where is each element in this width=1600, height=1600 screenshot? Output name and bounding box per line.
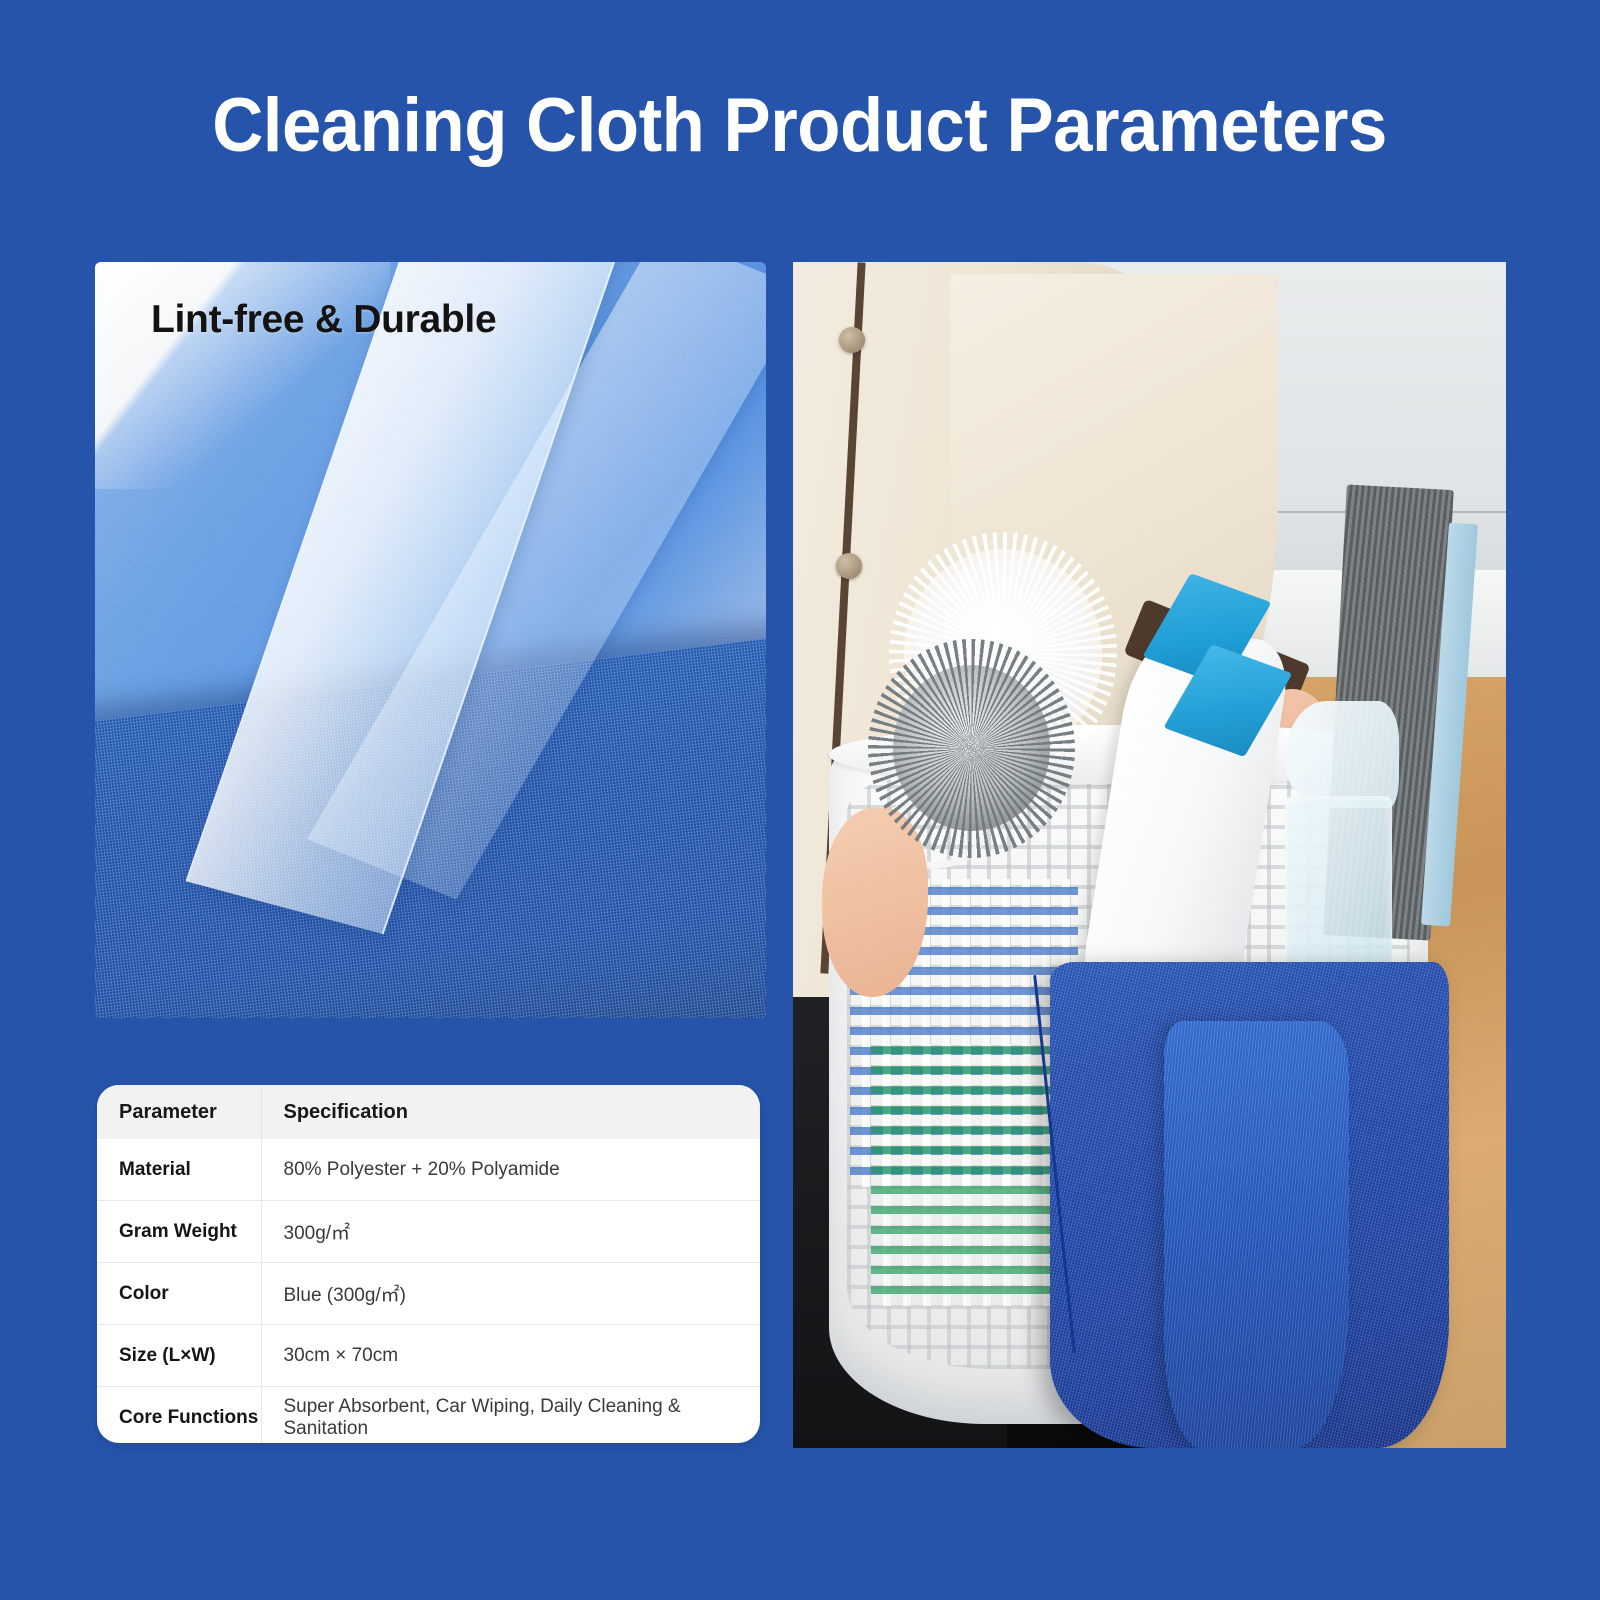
table-row: Gram Weight 300g/㎡ xyxy=(97,1201,760,1263)
cloth-fold xyxy=(1164,1021,1349,1448)
lint-free-label: Lint-free & Durable xyxy=(151,298,496,342)
jacket-button-lower xyxy=(836,553,862,579)
table-header-row: Parameter Specification xyxy=(97,1085,760,1139)
row-value-size: 30cm × 70cm xyxy=(261,1325,760,1387)
lifestyle-photo xyxy=(793,262,1506,1448)
row-label-color: Color xyxy=(97,1263,261,1325)
grey-pompom-brush xyxy=(893,665,1050,831)
row-label-size: Size (L×W) xyxy=(97,1325,261,1387)
page-title: Cleaning Cloth Product Parameters xyxy=(213,86,1388,166)
spec-table: Parameter Specification Material 80% Pol… xyxy=(97,1085,760,1443)
row-value-color: Blue (300g/㎡) xyxy=(261,1263,760,1325)
lint-free-demo-photo: Lint-free & Durable xyxy=(95,262,766,1018)
row-value-core-functions: Super Absorbent, Car Wiping, Daily Clean… xyxy=(261,1387,760,1444)
table-row: Material 80% Polyester + 20% Polyamide xyxy=(97,1139,760,1201)
spray-bottle-trigger xyxy=(1285,701,1399,808)
row-value-material: 80% Polyester + 20% Polyamide xyxy=(261,1139,760,1201)
column-header-parameter: Parameter xyxy=(97,1085,261,1139)
column-header-specification: Specification xyxy=(261,1085,760,1139)
table-row: Color Blue (300g/㎡) xyxy=(97,1263,760,1325)
spec-table-card: Parameter Specification Material 80% Pol… xyxy=(97,1085,760,1443)
page-title-bar: Cleaning Cloth Product Parameters xyxy=(0,86,1600,166)
row-label-material: Material xyxy=(97,1139,261,1201)
table-row: Size (L×W) 30cm × 70cm xyxy=(97,1325,760,1387)
row-value-gram-weight: 300g/㎡ xyxy=(261,1201,760,1263)
row-label-gram-weight: Gram Weight xyxy=(97,1201,261,1263)
row-label-core-functions: Core Functions xyxy=(97,1387,261,1444)
jacket-button-upper xyxy=(839,327,865,353)
basket-green-pattern xyxy=(871,1045,1056,1306)
table-row: Core Functions Super Absorbent, Car Wipi… xyxy=(97,1387,760,1444)
